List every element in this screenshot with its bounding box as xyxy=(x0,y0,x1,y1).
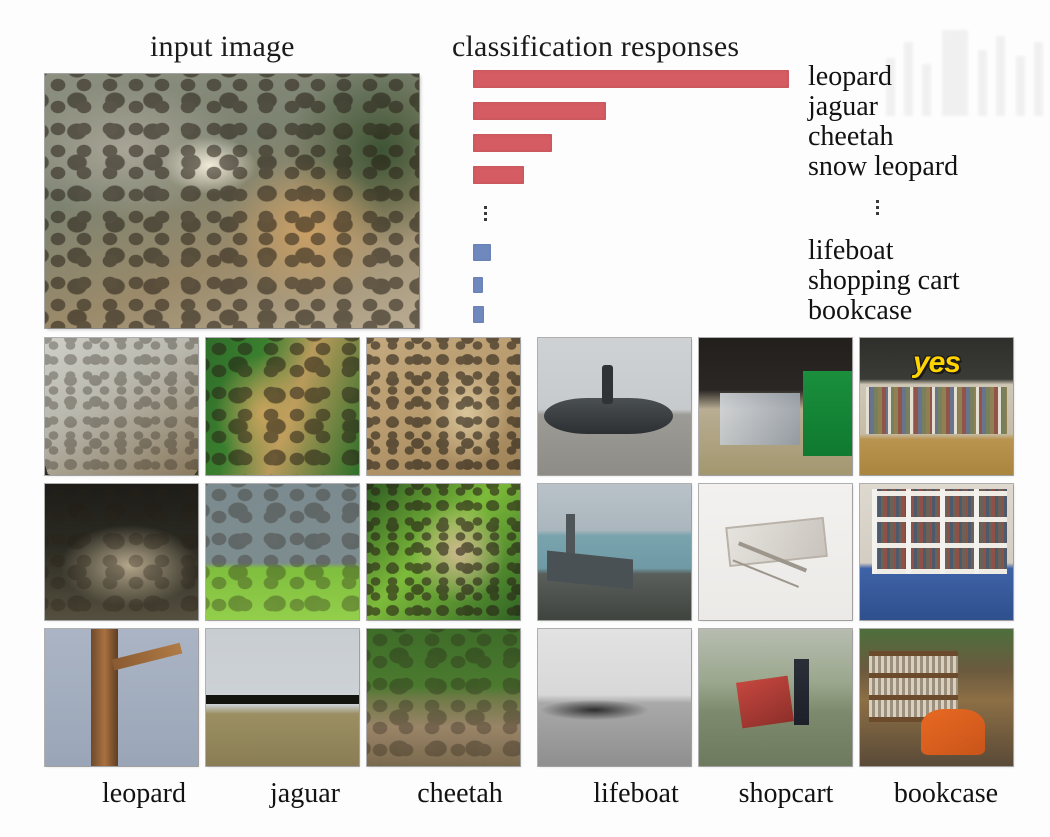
grid-cell-library-shelves xyxy=(860,484,1013,621)
bar-shopping-cart xyxy=(473,277,483,293)
grid-cell-cheetah-with-prey xyxy=(367,629,520,766)
class-label-lifeboat: lifeboat xyxy=(808,236,960,266)
grid-cell-bookcase-person xyxy=(860,629,1013,766)
category-label-jaguar: jaguar xyxy=(225,778,385,810)
classification-responses-title: classification responses xyxy=(452,30,739,64)
category-label-cheetah: cheetah xyxy=(380,778,540,810)
left-image-grid xyxy=(45,338,520,766)
bar-jaguar xyxy=(473,102,606,120)
grid-cell-jaguar-on-grass xyxy=(206,484,359,621)
grid-cell-bookcase-yes: yes xyxy=(860,338,1013,475)
input-image-title: input image xyxy=(150,30,295,64)
grid-cell-harbor-ships xyxy=(538,484,691,621)
grid-cell-shopping-cart-white xyxy=(699,484,852,621)
grid-cell-cart-and-people xyxy=(699,629,852,766)
leopard-spots-texture xyxy=(45,74,419,328)
figure-root: input image classification responses leo… xyxy=(0,0,1050,837)
grid-cell-leopard-in-tree xyxy=(45,338,198,475)
grid-cell-leopard-dark-tree xyxy=(45,484,198,621)
yes-overlay-text: yes xyxy=(860,346,1013,380)
grid-cell-cheetahs-on-sand xyxy=(367,338,520,475)
class-labels-top-group: leopard jaguar cheetah snow leopard xyxy=(808,62,958,182)
class-labels-bottom-group: lifeboat shopping cart bookcase xyxy=(808,236,960,326)
category-label-bookcase: bookcase xyxy=(861,778,1031,810)
grid-cell-leopard-hanging-trunk xyxy=(45,629,198,766)
grid-cell-cheetah-face-green xyxy=(367,484,520,621)
class-label-cheetah: cheetah xyxy=(808,122,958,152)
grid-cell-bw-sea-wreck xyxy=(538,629,691,766)
grid-cell-submarine-on-trailer xyxy=(538,338,691,475)
grid-cell-jaguar-dry-branches xyxy=(206,629,359,766)
bar-lifeboat xyxy=(473,244,491,261)
class-label-bookcase: bookcase xyxy=(808,296,960,326)
right-image-grid: yes xyxy=(538,338,1013,766)
category-label-leopard: leopard xyxy=(64,778,224,810)
grid-cell-boat-green-wall xyxy=(699,338,852,475)
class-label-shopping-cart: shopping cart xyxy=(808,266,960,296)
class-label-snow-leopard: snow leopard xyxy=(808,152,958,182)
labels-ellipsis-icon xyxy=(875,200,879,215)
category-label-lifeboat: lifeboat xyxy=(556,778,716,810)
class-label-jaguar: jaguar xyxy=(808,92,958,122)
classification-bar-chart xyxy=(473,66,803,316)
bar-bookcase xyxy=(473,306,484,323)
bar-snow-leopard xyxy=(473,166,524,184)
bar-cheetah xyxy=(473,134,552,152)
chart-ellipsis-icon xyxy=(483,206,487,221)
class-label-leopard: leopard xyxy=(808,62,958,92)
input-image-photo xyxy=(45,74,419,328)
category-label-shopcart: shopcart xyxy=(706,778,866,810)
grid-cell-jaguar-green-foliage xyxy=(206,338,359,475)
bar-leopard xyxy=(473,70,789,88)
